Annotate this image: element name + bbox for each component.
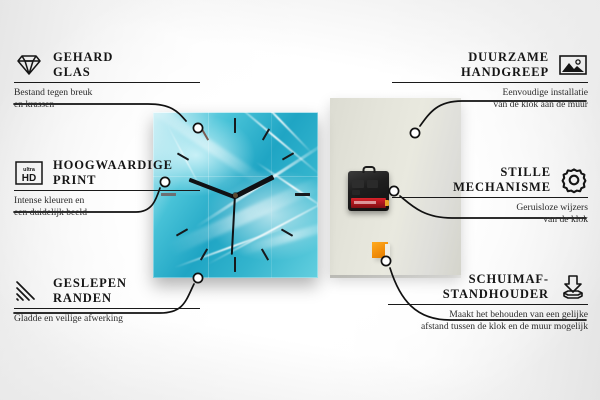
feature-title: DUURZAME HANDGREEP (461, 50, 549, 79)
divider (14, 82, 200, 83)
ultra-hd-icon: ultra HD (14, 160, 44, 186)
feature-title: SCHUIMAF- STANDHOUDER (443, 272, 549, 301)
feature-gehard-glas[interactable]: GEHARD GLAS Bestand tegen breuk en krass… (14, 50, 200, 111)
divider (392, 197, 588, 198)
feature-hoogwaardige-print[interactable]: ultra HD HOOGWAARDIGE PRINT Intense kleu… (14, 158, 200, 219)
feature-subtitle: Eenvoudige installatie van de klok aan d… (392, 87, 588, 110)
gear-icon (560, 166, 588, 194)
press-down-icon (558, 274, 588, 300)
infographic-stage: GEHARD GLAS Bestand tegen breuk en krass… (0, 0, 600, 400)
divider (14, 308, 200, 309)
feature-schuimaf-standhouder[interactable]: SCHUIMAF- STANDHOUDER Maakt het behouden… (388, 272, 588, 333)
feature-title: HOOGWAARDIGE PRINT (53, 158, 173, 187)
feature-subtitle: Intense kleuren en een duidelijk beeld (14, 195, 200, 218)
feature-subtitle: Bestand tegen breuk en krassen (14, 87, 200, 110)
connector-dot-duurzame-handgreep (410, 128, 419, 137)
feature-subtitle: Gladde en veilige afwerking (14, 313, 200, 325)
feature-duurzame-handgreep[interactable]: DUURZAME HANDGREEP Eenvoudige installati… (392, 50, 588, 111)
svg-text:HD: HD (22, 173, 36, 184)
feature-geslepen-randen[interactable]: GESLEPEN RANDEN Gladde en veilige afwerk… (14, 276, 200, 325)
feature-title: GESLEPEN RANDEN (53, 276, 127, 305)
diamond-icon (14, 53, 44, 77)
feature-title: GEHARD GLAS (53, 50, 113, 79)
connector-dot-schuimaf-standhouder (381, 256, 390, 265)
feature-stille-mechanisme[interactable]: STILLE MECHANISME Geruisloze wijzers van… (392, 165, 588, 226)
feature-subtitle: Geruisloze wijzers van de klok (392, 202, 588, 225)
beveled-edges-icon (14, 279, 44, 303)
divider (392, 82, 588, 83)
feature-title: STILLE MECHANISME (453, 165, 551, 194)
picture-frame-icon (558, 53, 588, 77)
connector-dot-gehard-glas (193, 123, 202, 132)
divider (388, 304, 588, 305)
divider (14, 190, 200, 191)
feature-subtitle: Maakt het behouden van een gelijke afsta… (388, 309, 588, 332)
